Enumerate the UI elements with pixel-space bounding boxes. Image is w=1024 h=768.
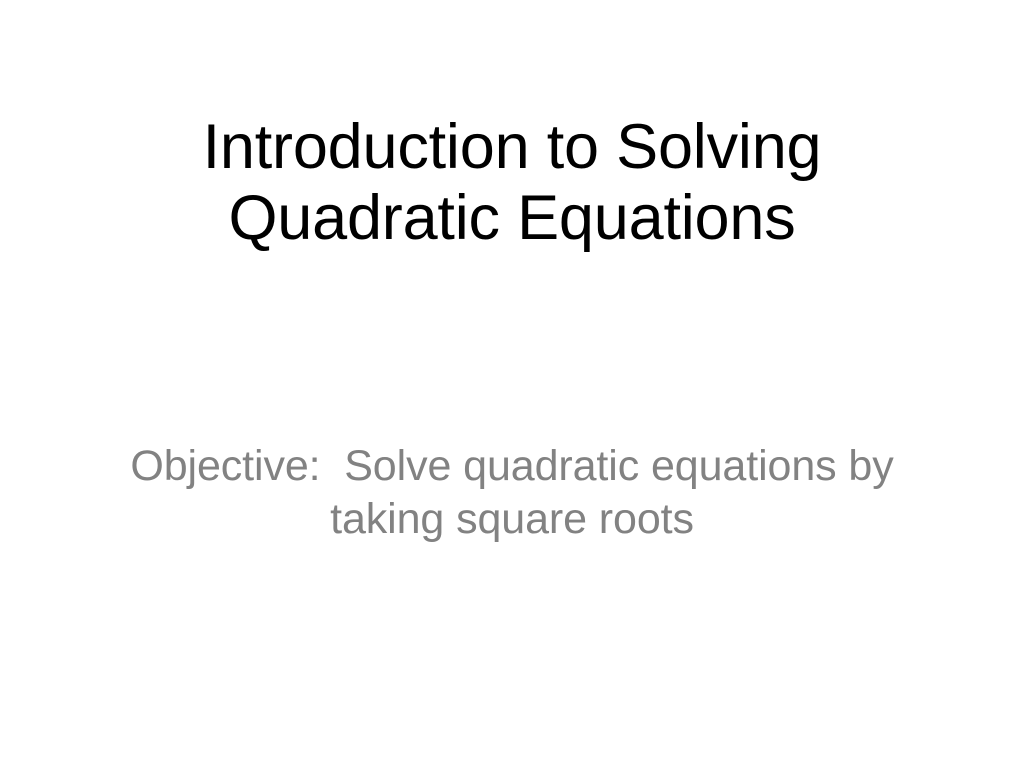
presentation-slide: Introduction to Solving Quadratic Equati…	[0, 0, 1024, 768]
page-title: Introduction to Solving Quadratic Equati…	[64, 112, 960, 254]
slide-subtitle: Objective: Solve quadratic equations by …	[96, 440, 928, 546]
